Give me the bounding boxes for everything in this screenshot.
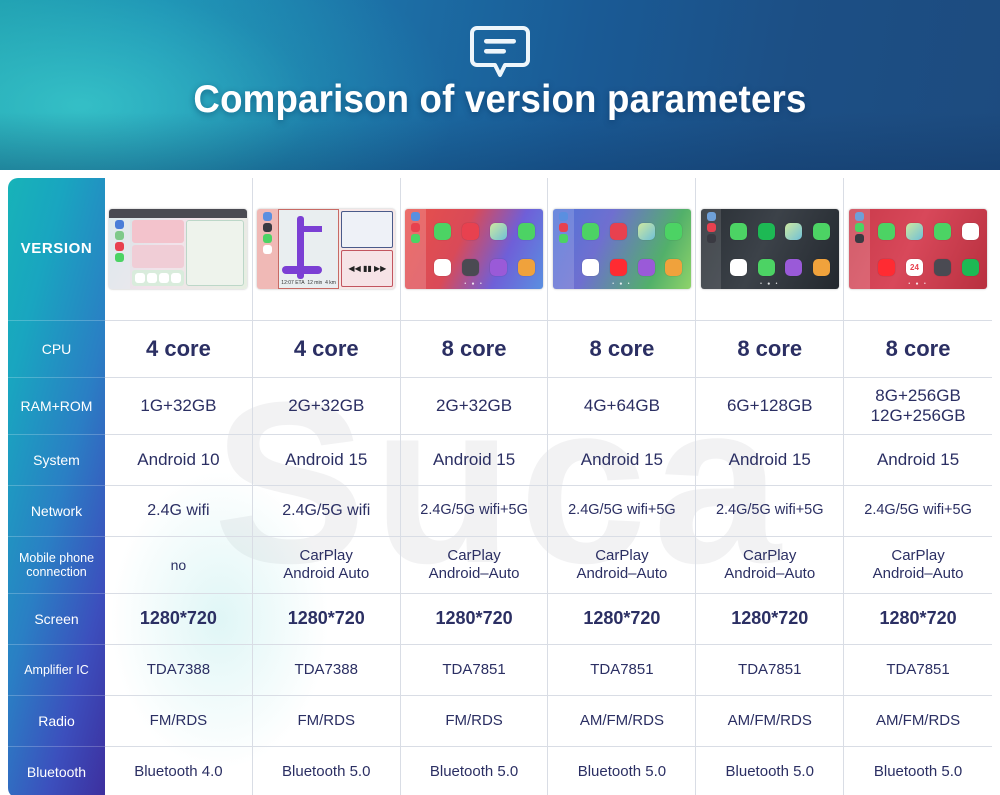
radio-cell-3: FM/RDS — [401, 696, 549, 747]
network-cell-5: 2.4G/5G wifi+5G — [696, 486, 844, 537]
network-cell-2: 2.4G/5G wifi — [253, 486, 401, 537]
network-cell-3: 2.4G/5G wifi+5G — [401, 486, 549, 537]
table-grid: VERSION CPU RAM+ROM System Network Mobil… — [8, 178, 992, 793]
version-cell-4: • ● • — [548, 178, 696, 321]
header-banner: Comparison of version parameters — [0, 0, 1000, 170]
carplay-blue-green-screenshot: • ● • — [553, 209, 691, 289]
screen-cell-6: 1280*720 — [844, 594, 992, 645]
ram-rom-cell-2: 2G+32GB — [253, 378, 401, 435]
carplay-dark-screenshot: • ● • — [701, 209, 839, 289]
bluetooth-cell-2: Bluetooth 5.0 — [253, 747, 401, 795]
bluetooth-cell-3: Bluetooth 5.0 — [401, 747, 549, 795]
mobile-connection-cell-3: CarPlay Android–Auto — [401, 537, 549, 594]
row-label-bluetooth: Bluetooth — [8, 747, 105, 795]
comparison-table: Suca VERSION CPU RAM+ROM System Network … — [0, 170, 1000, 795]
ram-rom-cell-5: 6G+128GB — [696, 378, 844, 435]
row-label-mobile-phone-connection: Mobile phone connection — [8, 537, 105, 594]
row-label-screen: Screen — [8, 594, 105, 645]
page-title: Comparison of version parameters — [30, 78, 970, 122]
network-cell-1: 2.4G wifi — [105, 486, 253, 537]
cpu-cell-2: 4 core — [253, 321, 401, 378]
amplifier-ic-cell-5: TDA7851 — [696, 645, 844, 696]
android-launcher-screenshot — [109, 209, 247, 289]
network-cell-4: 2.4G/5G wifi+5G — [548, 486, 696, 537]
row-label-version: VERSION — [8, 178, 105, 321]
radio-cell-5: AM/FM/RDS — [696, 696, 844, 747]
carplay-red-screenshot: • ● • — [405, 209, 543, 289]
cpu-cell-5: 8 core — [696, 321, 844, 378]
navigation-screenshot: 12:07 ETA 12 min 4 km ◀◀ ▮▮ ▶▶ — [257, 209, 395, 289]
system-cell-3: Android 15 — [401, 435, 549, 486]
screen-cell-4: 1280*720 — [548, 594, 696, 645]
row-label-radio: Radio — [8, 696, 105, 747]
bluetooth-cell-5: Bluetooth 5.0 — [696, 747, 844, 795]
amplifier-ic-cell-6: TDA7851 — [844, 645, 992, 696]
cpu-cell-4: 8 core — [548, 321, 696, 378]
radio-cell-6: AM/FM/RDS — [844, 696, 992, 747]
version-cell-1 — [105, 178, 253, 321]
screen-cell-5: 1280*720 — [696, 594, 844, 645]
ram-rom-cell-4: 4G+64GB — [548, 378, 696, 435]
system-cell-6: Android 15 — [844, 435, 992, 486]
screen-cell-3: 1280*720 — [401, 594, 549, 645]
radio-cell-2: FM/RDS — [253, 696, 401, 747]
comparison-infographic: Comparison of version parameters Suca VE… — [0, 0, 1000, 795]
row-label-cpu: CPU — [8, 321, 105, 378]
bluetooth-cell-6: Bluetooth 5.0 — [844, 747, 992, 795]
mobile-connection-cell-5: CarPlay Android–Auto — [696, 537, 844, 594]
cpu-cell-3: 8 core — [401, 321, 549, 378]
ram-rom-cell-3: 2G+32GB — [401, 378, 549, 435]
version-cell-3: • ● • — [401, 178, 549, 321]
ram-rom-cell-1: 1G+32GB — [105, 378, 253, 435]
screen-cell-2: 1280*720 — [253, 594, 401, 645]
network-cell-6: 2.4G/5G wifi+5G — [844, 486, 992, 537]
system-cell-1: Android 10 — [105, 435, 253, 486]
system-cell-5: Android 15 — [696, 435, 844, 486]
version-cell-2: 12:07 ETA 12 min 4 km ◀◀ ▮▮ ▶▶ — [253, 178, 401, 321]
cpu-cell-6: 8 core — [844, 321, 992, 378]
amplifier-ic-cell-4: TDA7851 — [548, 645, 696, 696]
ram-rom-cell-6: 8G+256GB 12G+256GB — [844, 378, 992, 435]
mobile-connection-cell-2: CarPlay Android Auto — [253, 537, 401, 594]
mobile-connection-cell-4: CarPlay Android–Auto — [548, 537, 696, 594]
row-label-amplifier-ic: Amplifier IC — [8, 645, 105, 696]
amplifier-ic-cell-3: TDA7851 — [401, 645, 549, 696]
radio-cell-1: FM/RDS — [105, 696, 253, 747]
system-cell-2: Android 15 — [253, 435, 401, 486]
speech-bubble-icon — [469, 24, 531, 82]
row-label-ram-rom: RAM+ROM — [8, 378, 105, 435]
carplay-crimson-screenshot: 24 • ● • — [849, 209, 987, 289]
row-label-network: Network — [8, 486, 105, 537]
cpu-cell-1: 4 core — [105, 321, 253, 378]
version-cell-6: 24 • ● • — [844, 178, 992, 321]
amplifier-ic-cell-2: TDA7388 — [253, 645, 401, 696]
mobile-connection-cell-1: no — [105, 537, 253, 594]
mobile-connection-cell-6: CarPlay Android–Auto — [844, 537, 992, 594]
version-cell-5: • ● • — [696, 178, 844, 321]
system-cell-4: Android 15 — [548, 435, 696, 486]
bluetooth-cell-4: Bluetooth 5.0 — [548, 747, 696, 795]
row-label-column: VERSION CPU RAM+ROM System Network Mobil… — [8, 178, 105, 795]
bluetooth-cell-1: Bluetooth 4.0 — [105, 747, 253, 795]
radio-cell-4: AM/FM/RDS — [548, 696, 696, 747]
screen-cell-1: 1280*720 — [105, 594, 253, 645]
row-label-system: System — [8, 435, 105, 486]
amplifier-ic-cell-1: TDA7388 — [105, 645, 253, 696]
